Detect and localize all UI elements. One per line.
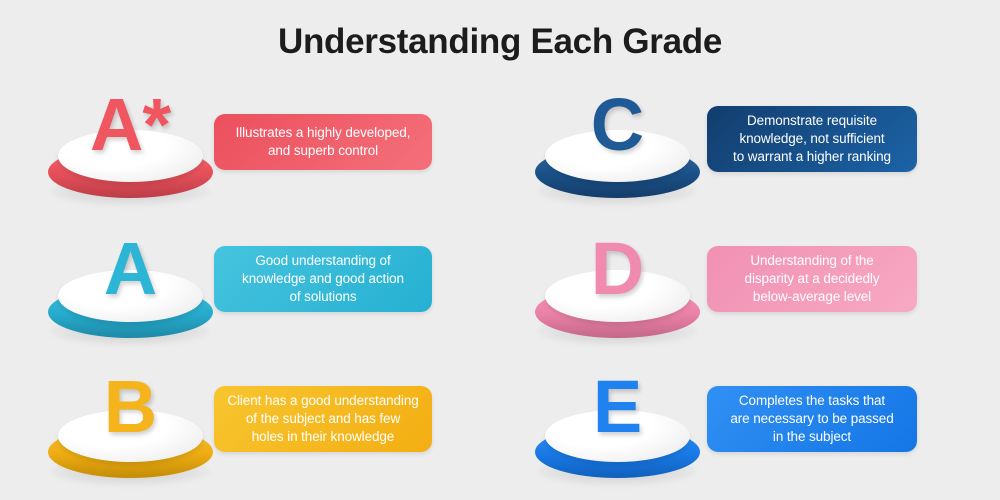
grade-letter: A (40, 232, 220, 306)
grade-letter: B (40, 370, 220, 444)
grade-letter: E (527, 370, 707, 444)
grade-badge-d[interactable]: D (527, 224, 707, 352)
grade-description-box[interactable]: Client has a good understandingof the su… (214, 386, 432, 452)
grade-description-box[interactable]: Illustrates a highly developed,and super… (214, 114, 432, 170)
grade-badge-c[interactable]: C (527, 84, 707, 212)
grade-description-text: Demonstrate requisiteknowledge, not suff… (717, 112, 907, 166)
grade-description-box[interactable]: Demonstrate requisiteknowledge, not suff… (707, 106, 917, 172)
grade-badge-b[interactable]: B (40, 364, 220, 492)
grade-row-c: CDemonstrate requisiteknowledge, not suf… (505, 78, 975, 218)
grade-description-box[interactable]: Completes the tasks thatare necessary to… (707, 386, 917, 452)
grade-row-e: ECompletes the tasks thatare necessary t… (505, 358, 975, 498)
grade-row-d: DUnderstanding of thedisparity at a deci… (505, 218, 975, 358)
grade-description-box[interactable]: Understanding of thedisparity at a decid… (707, 246, 917, 312)
grade-letter: A* (40, 88, 220, 162)
grade-row-a: AGood understanding ofknowledge and good… (22, 218, 492, 358)
grade-letter: D (527, 232, 707, 306)
grade-description-box[interactable]: Good understanding ofknowledge and good … (214, 246, 432, 312)
page-title: Understanding Each Grade (0, 22, 1000, 62)
grade-letter: C (527, 88, 707, 162)
grade-description-text: Illustrates a highly developed,and super… (224, 124, 422, 160)
infographic-root: Understanding Each Grade A*Illustrates a… (0, 0, 1000, 500)
grade-badge-a[interactable]: A (40, 224, 220, 352)
grade-description-text: Good understanding ofknowledge and good … (224, 252, 422, 306)
grade-row-b: BClient has a good understandingof the s… (22, 358, 492, 498)
grade-badge-e[interactable]: E (527, 364, 707, 492)
grade-badge-astar[interactable]: A* (40, 84, 220, 212)
grade-description-text: Understanding of thedisparity at a decid… (717, 252, 907, 306)
grade-description-text: Completes the tasks thatare necessary to… (717, 392, 907, 446)
grade-row-astar: A*Illustrates a highly developed,and sup… (22, 78, 492, 218)
grade-description-text: Client has a good understandingof the su… (224, 392, 422, 446)
